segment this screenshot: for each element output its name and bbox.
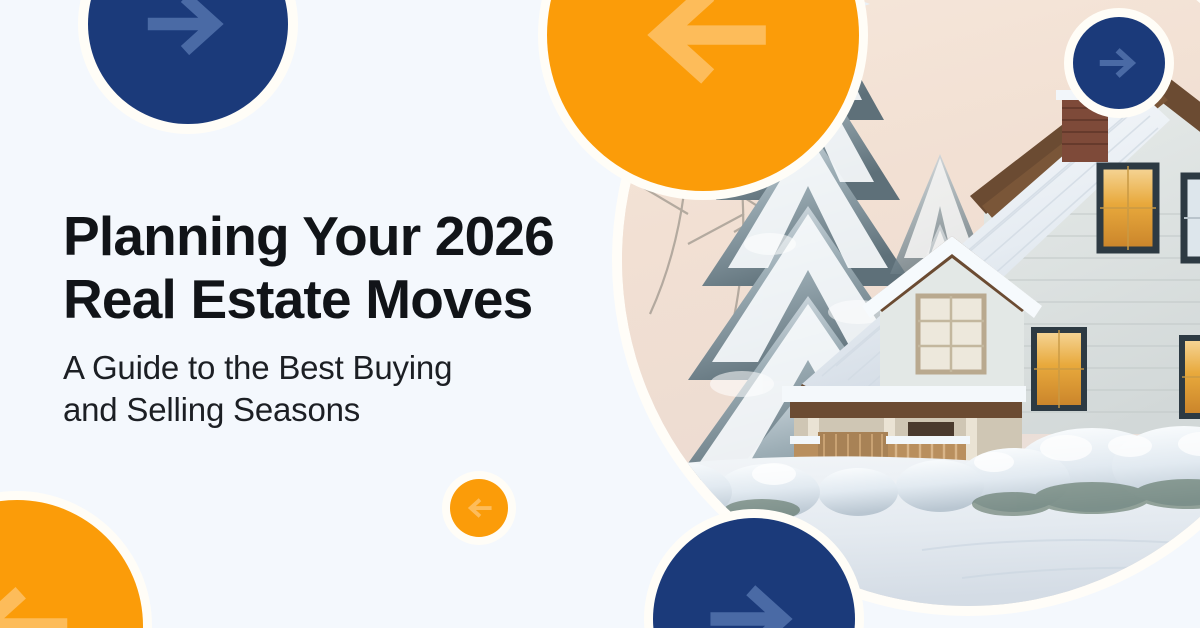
page-subtitle: A Guide to the Best Buying and Selling S… [63,347,603,431]
subhead-line-2: and Selling Seasons [63,391,360,428]
arrow-right-icon [702,567,806,628]
banner-text-block: Planning Your 2026 Real Estate Moves A G… [63,205,603,431]
arrow-left-icon [464,493,494,523]
decor-circle-bottom-left [0,500,143,628]
marketing-banner: Planning Your 2026 Real Estate Moves A G… [0,0,1200,628]
arrow-left-icon [0,566,77,628]
page-title: Planning Your 2026 Real Estate Moves [63,205,603,331]
arrow-right-icon [140,0,236,72]
arrow-left-icon [628,0,778,110]
decor-circle-small-orange [450,479,508,537]
subhead-line-1: A Guide to the Best Buying [63,349,452,386]
decor-circle-top-right [1073,17,1165,109]
headline-line-1: Planning Your 2026 [63,205,554,267]
headline-line-2: Real Estate Moves [63,268,532,330]
arrow-right-icon [1096,40,1142,86]
